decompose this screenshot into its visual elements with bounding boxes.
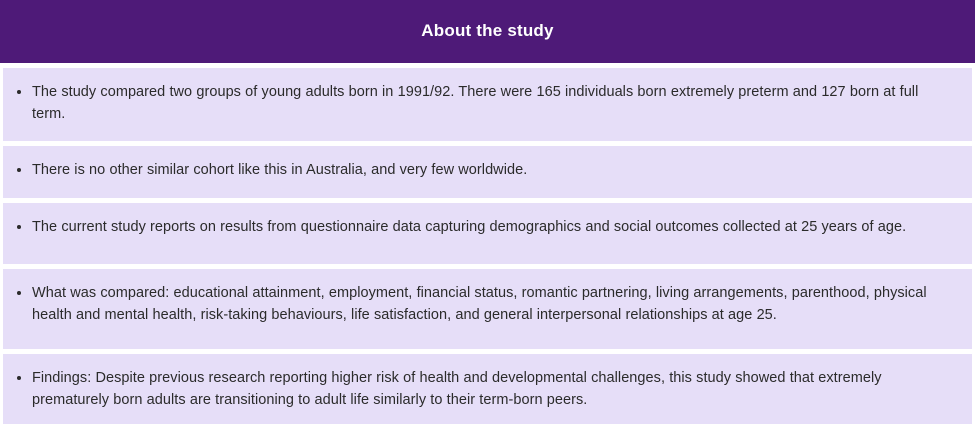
about-study-bullet-list: The study compared two groups of young a…	[0, 63, 975, 439]
bullet-dot-icon	[17, 376, 21, 380]
panel-header: About the study	[0, 0, 975, 63]
list-item-text: Findings: Despite previous research repo…	[32, 367, 950, 411]
bullet-dot-icon	[17, 168, 21, 172]
list-item-text: There is no other similar cohort like th…	[32, 159, 950, 181]
list-item-text: What was compared: educational attainmen…	[32, 282, 950, 326]
about-the-study-panel: About the study The study compared two g…	[0, 0, 975, 439]
list-item: The study compared two groups of young a…	[3, 68, 972, 141]
list-item: There is no other similar cohort like th…	[3, 146, 972, 198]
list-item: Findings: Despite previous research repo…	[3, 354, 972, 424]
bullet-dot-icon	[17, 291, 21, 295]
list-item: What was compared: educational attainmen…	[3, 269, 972, 349]
bullet-dot-icon	[17, 225, 21, 229]
panel-title: About the study	[421, 21, 553, 41]
list-item: The current study reports on results fro…	[3, 203, 972, 264]
list-item-text: The study compared two groups of young a…	[32, 81, 950, 125]
list-item-text: The current study reports on results fro…	[32, 216, 950, 238]
bullet-dot-icon	[17, 90, 21, 94]
